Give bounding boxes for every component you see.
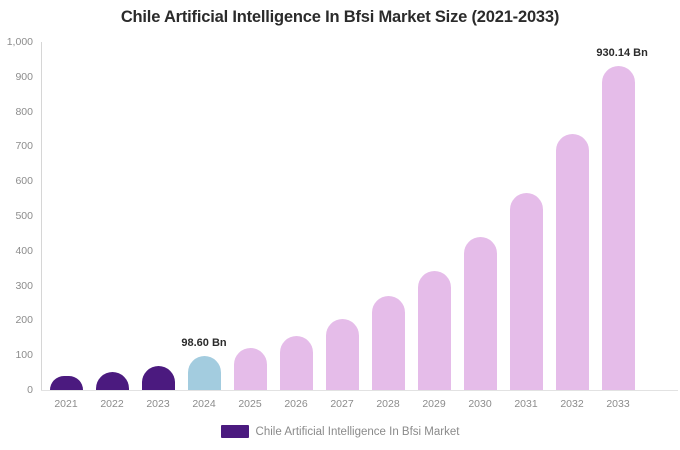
y-axis-tick-label: 200 [0,314,33,326]
bar-2031[interactable] [510,193,543,390]
bar-2028[interactable] [372,296,405,390]
bar-2022[interactable] [96,372,129,390]
legend-swatch [221,425,249,438]
x-axis-tick-label: 2032 [549,398,595,410]
legend-label: Chile Artificial Intelligence In Bfsi Ma… [256,426,460,438]
bar-2026[interactable] [280,336,313,390]
bar-2025[interactable] [234,348,267,390]
bar-2024[interactable]: 98.60 Bn [188,356,221,390]
bar-2033[interactable]: 930.14 Bn [602,66,635,390]
bar-2030[interactable] [464,237,497,390]
y-axis-tick-label: 500 [0,210,33,222]
x-axis-tick-label: 2031 [503,398,549,410]
bar-2027[interactable] [326,319,359,390]
chart-legend: Chile Artificial Intelligence In Bfsi Ma… [0,425,680,438]
bars-layer: 20212022202398.60 Bn20242025202620272028… [41,0,680,450]
x-axis-tick-label: 2025 [227,398,273,410]
y-axis-tick-label: 700 [0,140,33,152]
y-axis-tick-label: 600 [0,175,33,187]
y-axis-tick-label: 400 [0,245,33,257]
x-axis-tick-label: 2022 [89,398,135,410]
x-axis-tick-label: 2023 [135,398,181,410]
y-axis-tick-label: 300 [0,280,33,292]
x-axis-tick-label: 2028 [365,398,411,410]
x-axis-tick-label: 2030 [457,398,503,410]
bar-chart: Chile Artificial Intelligence In Bfsi Ma… [0,0,680,450]
x-axis-tick-label: 2026 [273,398,319,410]
y-axis-tick-label: 100 [0,349,33,361]
x-axis-tick-label: 2021 [43,398,89,410]
bar-value-label: 98.60 Bn [181,337,226,349]
y-axis-tick-label: 900 [0,71,33,83]
y-axis-tick-label: 1,000 [0,36,33,48]
bar-2023[interactable] [142,366,175,390]
y-axis: 1,0009008007006005004003002001000 [0,0,33,450]
y-axis-tick-label: 800 [0,106,33,118]
x-axis-tick-label: 2027 [319,398,365,410]
x-axis-tick-label: 2033 [595,398,641,410]
bar-value-label: 930.14 Bn [596,47,647,59]
bar-2021[interactable] [50,376,83,390]
x-axis-tick-label: 2029 [411,398,457,410]
y-axis-tick-label: 0 [0,384,33,396]
x-axis-tick-label: 2024 [181,398,227,410]
bar-2032[interactable] [556,134,589,390]
bar-2029[interactable] [418,271,451,390]
